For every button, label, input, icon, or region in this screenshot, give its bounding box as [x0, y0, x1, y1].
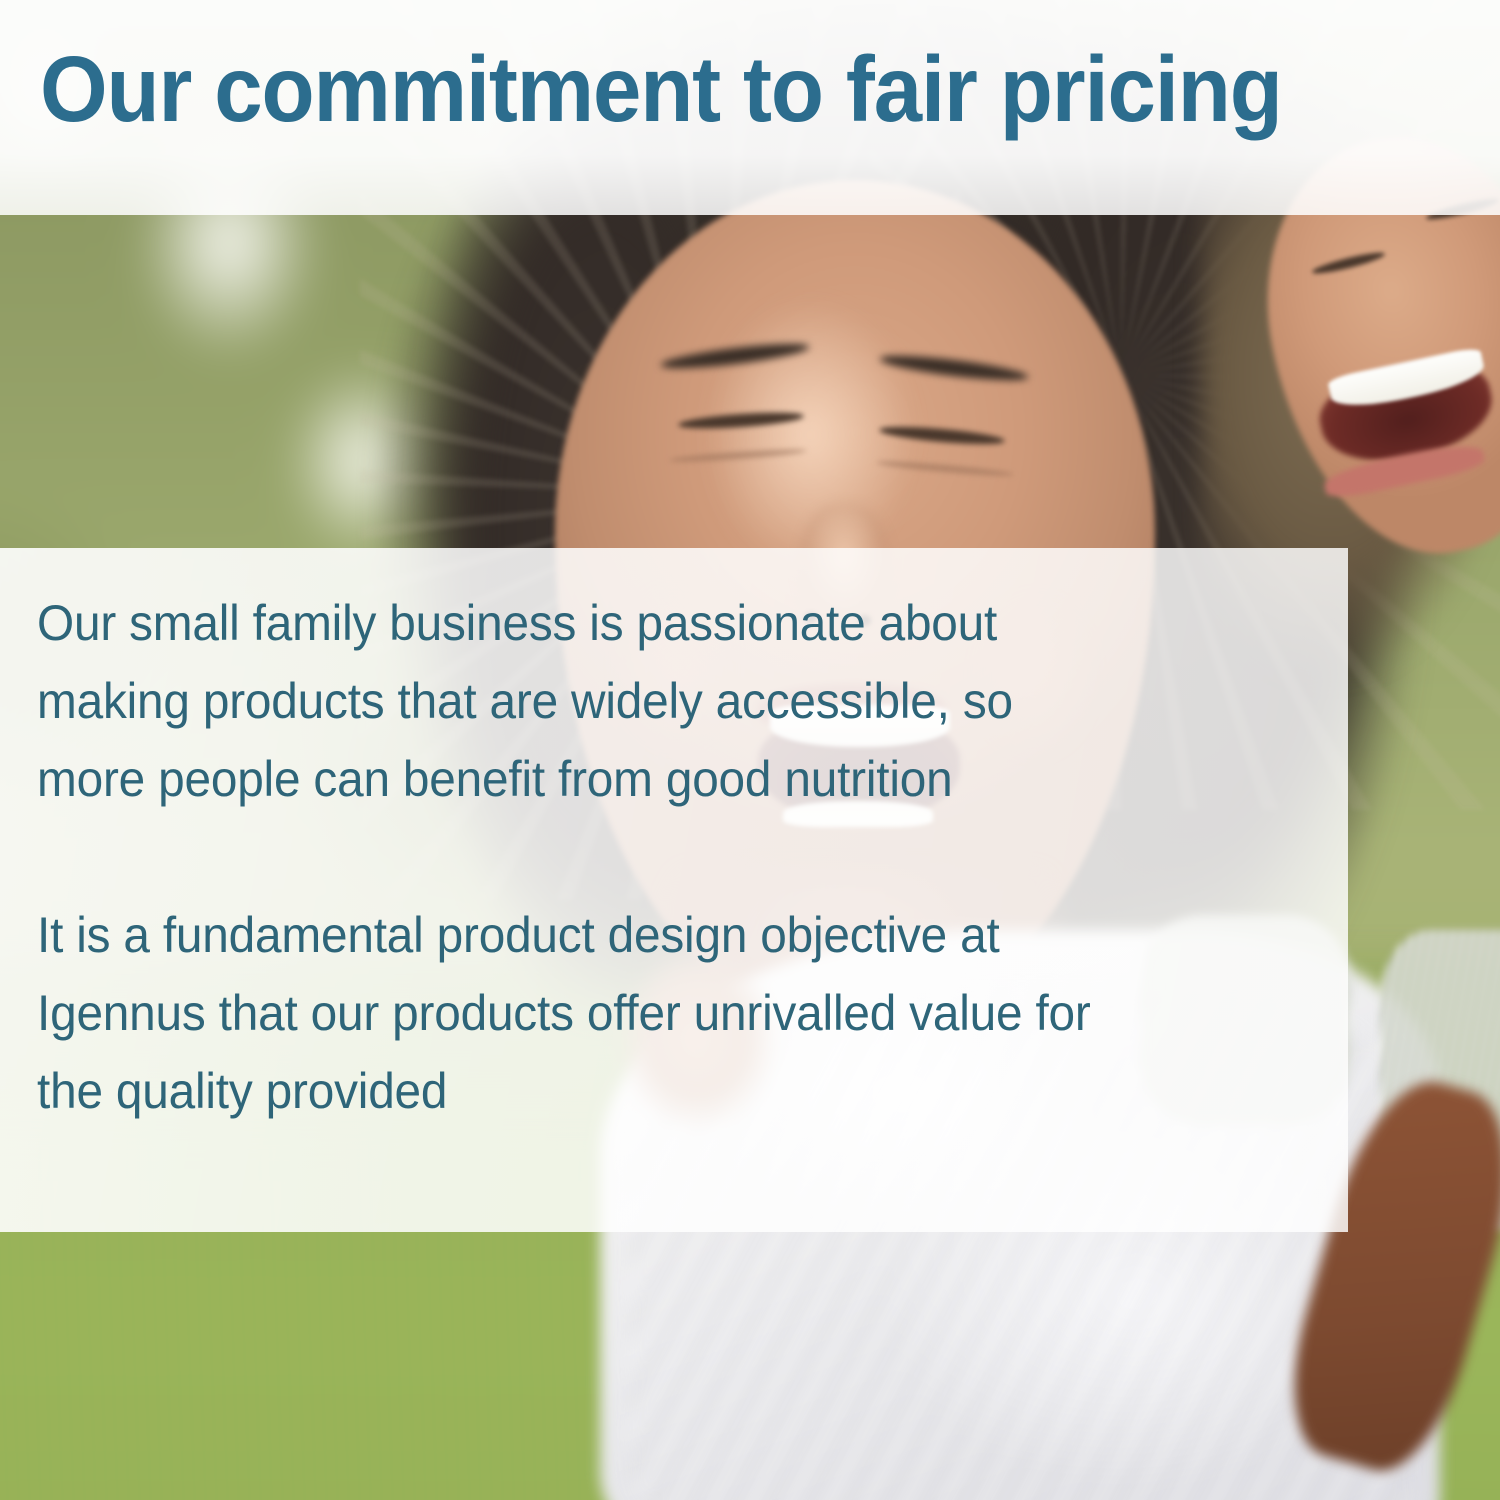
poster-canvas: Our commitment to fair pricing Our small… [0, 0, 1500, 1500]
text-overlay-panel: Our small family business is passionate … [0, 548, 1348, 1232]
overlay-paragraph-2: It is a fundamental product design objec… [37, 896, 1270, 1130]
page-title: Our commitment to fair pricing [40, 42, 1381, 137]
overlay-paragraph-1: Our small family business is passionate … [37, 584, 1270, 818]
overlay-body-text: Our small family business is passionate … [37, 584, 1270, 1130]
